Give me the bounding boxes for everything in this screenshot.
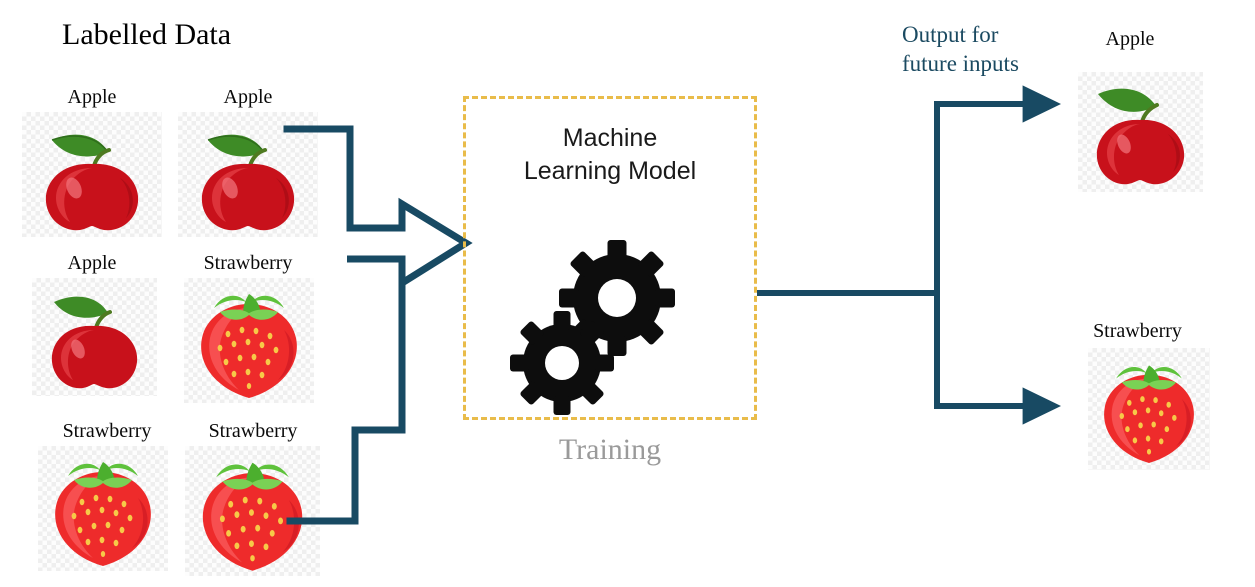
fruit-label: Apple bbox=[178, 86, 318, 109]
gear-icon bbox=[510, 311, 614, 415]
output-annotation-line2: future inputs bbox=[902, 49, 1082, 78]
gear-icon-group bbox=[500, 215, 700, 415]
output-fruit-label: Apple bbox=[1060, 28, 1200, 51]
apple-icon bbox=[32, 278, 157, 396]
fruit-label: Strawberry bbox=[22, 420, 192, 443]
apple-icon bbox=[1078, 72, 1203, 192]
output-fruit-label: Strawberry bbox=[1055, 320, 1220, 343]
fruit-label: Apple bbox=[22, 86, 162, 109]
fruit-label: Apple bbox=[22, 252, 162, 275]
labelled-data-title: Labelled Data bbox=[62, 18, 231, 52]
model-title-line2: Learning Model bbox=[463, 155, 757, 188]
strawberry-icon bbox=[1088, 348, 1210, 470]
model-title-line1: Machine bbox=[463, 122, 757, 155]
model-title: Machine Learning Model bbox=[463, 122, 757, 188]
strawberry-icon bbox=[38, 446, 168, 571]
output-arrows bbox=[755, 95, 1075, 420]
output-annotation: Output for future inputs bbox=[902, 20, 1082, 78]
block-arrow-right-outline-icon bbox=[280, 120, 470, 530]
apple-icon bbox=[1078, 72, 1203, 192]
apple-icon bbox=[22, 112, 162, 237]
training-caption: Training bbox=[463, 433, 757, 467]
strawberry-icon bbox=[38, 446, 168, 571]
strawberry-icon bbox=[1088, 348, 1210, 470]
apple-icon bbox=[22, 112, 162, 237]
apple-icon bbox=[32, 278, 157, 396]
output-annotation-line1: Output for bbox=[902, 20, 1082, 49]
diagram-canvas: Labelled Data Apple Apple Apple bbox=[0, 0, 1255, 587]
